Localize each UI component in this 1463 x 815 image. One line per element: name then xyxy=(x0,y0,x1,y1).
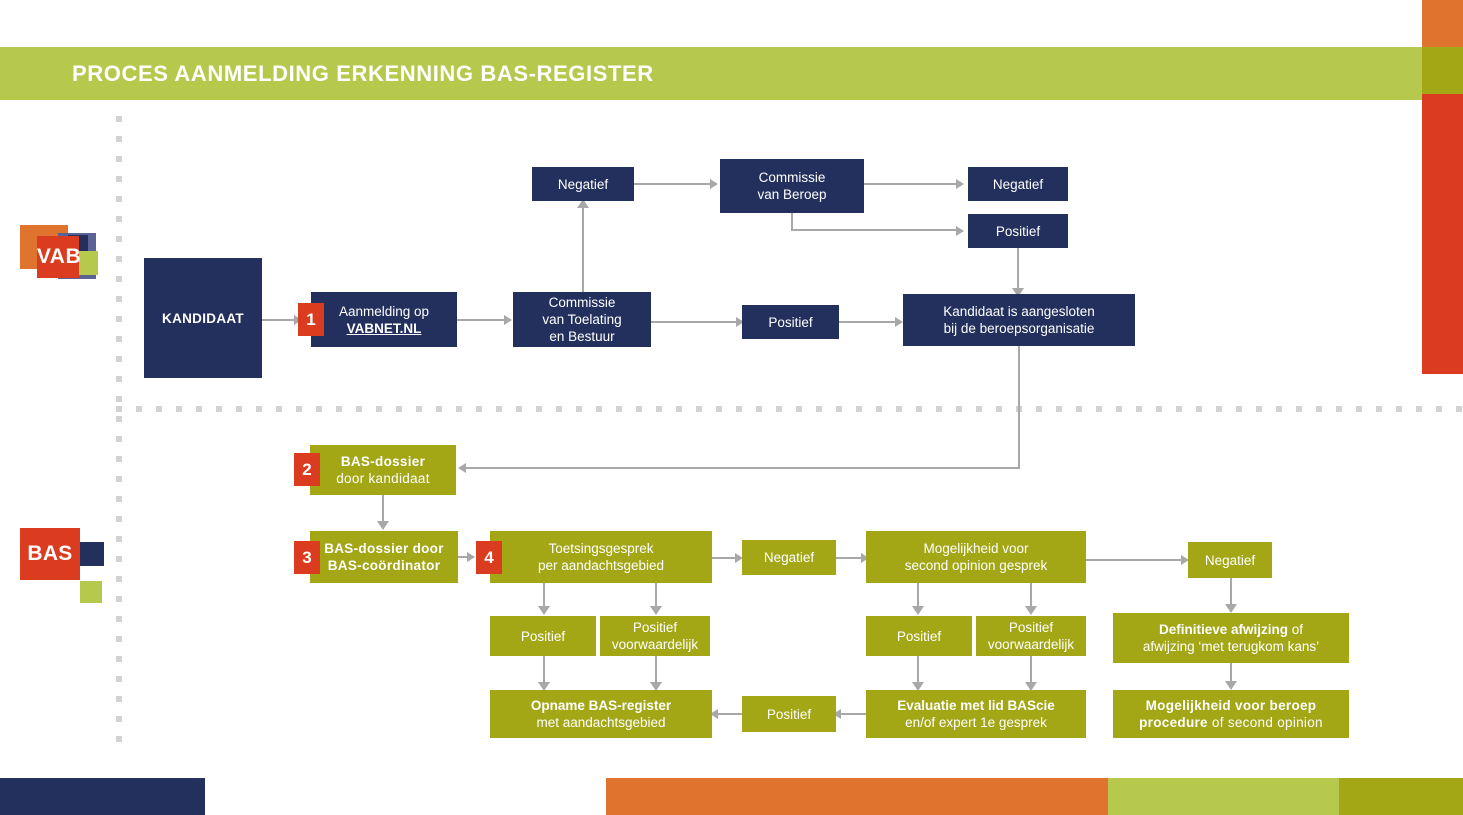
node-dossier-coordinator-line2: BAS-coördinator xyxy=(328,557,441,574)
diagram-canvas: PROCES AANMELDING ERKENNING BAS-REGISTER… xyxy=(0,0,1463,815)
node-kandidaat[interactable]: KANDIDAAT xyxy=(144,258,262,378)
arrow-so-positief xyxy=(912,606,924,615)
connector-beroep-positief-horiz xyxy=(791,229,956,231)
node-positief-second-opinion[interactable]: Positief xyxy=(866,616,972,656)
connector-positief-aangesloten xyxy=(839,321,895,323)
node-positief-voorw-so-line2: voorwaardelijk xyxy=(988,636,1074,653)
node-negatief-so-label: Negatief xyxy=(1205,552,1255,569)
node-aangesloten-line2: bij de beroepsorganisatie xyxy=(944,320,1095,337)
node-positief-beroep-label: Positief xyxy=(996,223,1040,240)
footer-bar-orange xyxy=(606,778,1108,815)
node-opname-line1: Opname BAS-register xyxy=(531,697,671,714)
node-positief-voorw-so-line1: Positief xyxy=(1009,619,1053,636)
connector-positieftoets-opname xyxy=(543,656,545,684)
dotted-divider-horizontal xyxy=(116,406,1463,412)
node-negatief-beroep[interactable]: Negatief xyxy=(968,167,1068,201)
node-negatief-second-opinion[interactable]: Negatief xyxy=(1188,542,1272,578)
edge-block-olive xyxy=(1422,47,1463,94)
node-afwijzing-bold: Definitieve afwijzing xyxy=(1159,622,1288,637)
footer-bar-lime xyxy=(1108,778,1339,815)
node-positief-toelating[interactable]: Positief xyxy=(742,305,839,339)
node-positief-evaluatie-label: Positief xyxy=(767,706,811,723)
node-beroep-line2: procedure of second opinion xyxy=(1139,714,1323,731)
connector-so-positief-voorw xyxy=(1030,583,1032,608)
step-badge-1: 1 xyxy=(298,303,324,336)
arrow-negatief-beroep xyxy=(710,179,718,189)
connector-aanmelding-toelating xyxy=(457,319,504,321)
node-toetsingsgesprek-line1: Toetsingsgesprek xyxy=(548,540,653,557)
node-dossier-coordinator-line1: BAS-dossier door xyxy=(324,540,444,557)
edge-block-orange xyxy=(1422,0,1463,47)
node-aangesloten-line1: Kandidaat is aangesloten xyxy=(943,303,1095,320)
node-opname-line2: met aandachtsgebied xyxy=(536,714,665,731)
vab-logo: VAB xyxy=(20,225,98,285)
node-commissie-toelating-line3: en Bestuur xyxy=(549,328,614,345)
step-badge-2: 2 xyxy=(294,453,320,486)
node-commissie-beroep[interactable]: Commissie van Beroep xyxy=(720,159,864,213)
node-commissie-beroep-line1: Commissie xyxy=(759,169,826,186)
node-afwijzing-line2: afwijzing ‘met terugkom kans’ xyxy=(1143,638,1319,655)
arrow-toetsing-positief-voorw xyxy=(650,606,662,615)
connector-aangesloten-dossier-vert xyxy=(1018,346,1020,469)
arrow-aangesloten-dossier xyxy=(458,463,466,473)
edge-block-red xyxy=(1422,94,1463,374)
node-positief-toelating-label: Positief xyxy=(768,314,812,331)
node-positief-voorwaardelijk-second-opinion[interactable]: Positief voorwaardelijk xyxy=(976,616,1086,656)
node-toetsingsgesprek[interactable]: Toetsingsgesprek per aandachtsgebied xyxy=(490,531,712,583)
connector-positiefvoorwtoets-opname xyxy=(655,656,657,684)
arrow-beroep-negatief xyxy=(956,179,964,189)
vab-logo-label: VAB xyxy=(20,236,98,278)
node-evaluatie-line2: en/of expert 1e gesprek xyxy=(905,714,1047,731)
dotted-divider-vertical xyxy=(116,116,122,756)
connector-negatiefso-afwijzing xyxy=(1230,578,1232,606)
node-afwijzing-line1: Definitieve afwijzing of xyxy=(1159,621,1303,638)
arrow-negatiefso-afwijzing xyxy=(1225,604,1237,613)
connector-toelating-negatief xyxy=(582,201,584,292)
node-aanmelding[interactable]: Aanmelding op VABNET.NL xyxy=(311,292,457,347)
connector-beroep-negatief xyxy=(864,183,956,185)
node-second-opinion-line1: Mogelijkheid voor xyxy=(923,540,1028,557)
node-commissie-toelating[interactable]: Commissie van Toelating en Bestuur xyxy=(513,292,651,347)
node-positief-voorw-toets-line1: Positief xyxy=(633,619,677,636)
node-beroep-line2-bold: procedure xyxy=(1139,715,1208,730)
step-badge-4: 4 xyxy=(476,541,502,574)
arrow-coordinator-toetsing xyxy=(467,552,475,562)
node-beroep-line1: Mogelijkheid voor beroep xyxy=(1146,697,1317,714)
connector-toetsing-positief xyxy=(543,583,545,608)
connector-so-positief xyxy=(917,583,919,608)
connector-evaluatie-positief xyxy=(840,713,866,715)
connector-so-negatief xyxy=(1086,559,1182,561)
arrow-positief-aangesloten xyxy=(895,317,903,327)
connector-positief-opname xyxy=(718,713,742,715)
node-positief-voorw-toets-line2: voorwaardelijk xyxy=(612,636,698,653)
bas-logo: BAS xyxy=(20,528,98,603)
bas-logo-square-lime xyxy=(80,581,102,603)
node-commissie-toelating-line1: Commissie xyxy=(549,294,616,311)
node-negatief-toelating-label: Negatief xyxy=(558,176,608,193)
node-bas-dossier-kandidaat[interactable]: BAS-dossier door kandidaat xyxy=(310,445,456,495)
node-beroep-line2-rest: of second opinion xyxy=(1208,715,1323,730)
footer-bar-olive xyxy=(1339,778,1463,815)
node-positief-toetsing[interactable]: Positief xyxy=(490,616,596,656)
node-positief-so-label: Positief xyxy=(897,628,941,645)
arrow-afwijzing-beroepprocedure xyxy=(1225,681,1237,690)
bas-logo-square-navy xyxy=(80,542,104,566)
connector-negatief-secondopinion xyxy=(836,557,864,559)
node-bas-dossier-coordinator[interactable]: BAS-dossier door BAS-coördinator xyxy=(310,531,458,583)
node-aanmelding-link[interactable]: VABNET.NL xyxy=(347,320,422,337)
node-positief-beroep[interactable]: Positief xyxy=(968,214,1068,248)
connector-positiefso-evaluatie xyxy=(917,656,919,684)
connector-positiefberoep-aangesloten xyxy=(1017,248,1019,290)
node-positief-evaluatie[interactable]: Positief xyxy=(742,696,836,732)
connector-toetsing-negatief xyxy=(712,557,737,559)
step-badge-3: 3 xyxy=(294,541,320,574)
connector-dossier-kandidaat-coordinator xyxy=(382,495,384,523)
arrow-dossier-kandidaat-coordinator xyxy=(377,521,389,530)
node-negatief-beroep-label: Negatief xyxy=(993,176,1043,193)
footer-bar-navy xyxy=(0,778,205,815)
node-second-opinion-line2: second opinion gesprek xyxy=(905,557,1048,574)
node-negatief-toetsing-label: Negatief xyxy=(764,549,814,566)
node-beroep-procedure[interactable]: Mogelijkheid voor beroep procedure of se… xyxy=(1113,690,1349,738)
node-negatief-toetsing[interactable]: Negatief xyxy=(742,540,836,575)
node-dossier-kandidaat-line1: BAS-dossier xyxy=(341,453,425,470)
node-second-opinion[interactable]: Mogelijkheid voor second opinion gesprek xyxy=(866,531,1086,583)
connector-aangesloten-dossier-horiz xyxy=(466,467,1020,469)
connector-toelating-positief xyxy=(651,321,736,323)
node-definitieve-afwijzing[interactable]: Definitieve afwijzing of afwijzing ‘met … xyxy=(1113,613,1349,663)
node-evaluatie-line1: Evaluatie met lid BAScie xyxy=(897,697,1055,714)
node-dossier-kandidaat-line2: door kandidaat xyxy=(336,470,430,487)
node-kandidaat-aangesloten[interactable]: Kandidaat is aangesloten bij de beroepso… xyxy=(903,294,1135,346)
arrow-beroep-positief xyxy=(956,226,964,236)
arrow-toetsing-positief xyxy=(538,606,550,615)
node-negatief-toelating[interactable]: Negatief xyxy=(532,167,634,201)
arrow-aanmelding-toelating xyxy=(504,315,512,325)
page-title: PROCES AANMELDING ERKENNING BAS-REGISTER xyxy=(72,60,654,88)
arrow-so-positief-voorw xyxy=(1025,606,1037,615)
connector-toetsing-positief-voorw xyxy=(655,583,657,608)
connector-negatief-beroep xyxy=(634,183,710,185)
bas-logo-label: BAS xyxy=(20,528,80,580)
node-aanmelding-line1: Aanmelding op xyxy=(339,303,429,320)
node-positief-toetsing-label: Positief xyxy=(521,628,565,645)
node-commissie-toelating-line2: van Toelating xyxy=(542,311,621,328)
connector-positiefvoorwso-evaluatie xyxy=(1030,656,1032,684)
node-opname-bas-register[interactable]: Opname BAS-register met aandachtsgebied xyxy=(490,690,712,738)
node-kandidaat-label: KANDIDAAT xyxy=(162,310,244,327)
node-afwijzing-rest: of xyxy=(1288,622,1303,637)
node-evaluatie-bascie[interactable]: Evaluatie met lid BAScie en/of expert 1e… xyxy=(866,690,1086,738)
node-commissie-beroep-line2: van Beroep xyxy=(757,186,826,203)
node-toetsingsgesprek-line2: per aandachtsgebied xyxy=(538,557,664,574)
node-positief-voorwaardelijk-toetsing[interactable]: Positief voorwaardelijk xyxy=(600,616,710,656)
